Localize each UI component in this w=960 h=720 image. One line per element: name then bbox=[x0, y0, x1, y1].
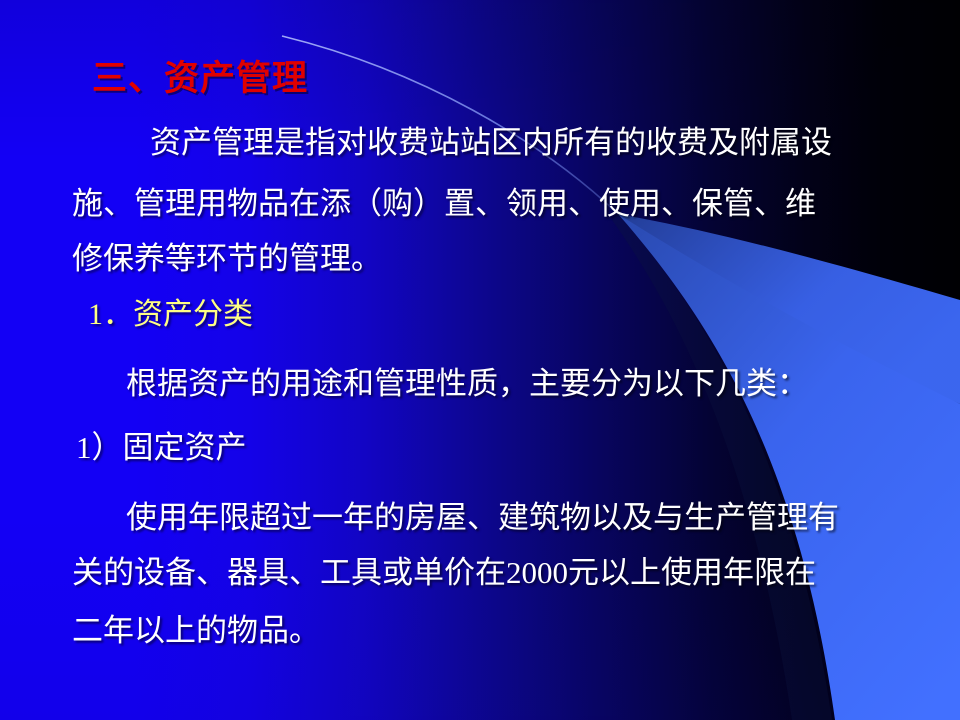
body-paragraph-3-line-2: 关的设备、器具、工具或单价在2000元以上使用年限在 bbox=[72, 557, 816, 588]
section-heading-asset-classification: 1．资产分类 bbox=[88, 300, 253, 330]
slide-canvas: 三、资产管理 资产管理是指对收费站站区内所有的收费及附属设 施、管理用物品在添（… bbox=[0, 0, 960, 720]
slide-decoration-graphics bbox=[0, 0, 960, 720]
body-paragraph-1-line-2: 施、管理用物品在添（购）置、领用、使用、保管、维 bbox=[72, 188, 816, 219]
body-paragraph-2-line-1: 根据资产的用途和管理性质，主要分为以下几类： bbox=[126, 368, 808, 399]
section-heading-fixed-assets: 1）固定资产 bbox=[76, 432, 247, 463]
body-paragraph-1-line-3: 修保养等环节的管理。 bbox=[72, 243, 382, 274]
body-paragraph-3-line-1: 使用年限超过一年的房屋、建筑物以及与生产管理有 bbox=[126, 502, 839, 533]
body-paragraph-1-line-1: 资产管理是指对收费站站区内所有的收费及附属设 bbox=[150, 127, 832, 158]
body-paragraph-3-line-3: 二年以上的物品。 bbox=[72, 615, 320, 646]
slide-title: 三、资产管理 bbox=[92, 50, 308, 101]
